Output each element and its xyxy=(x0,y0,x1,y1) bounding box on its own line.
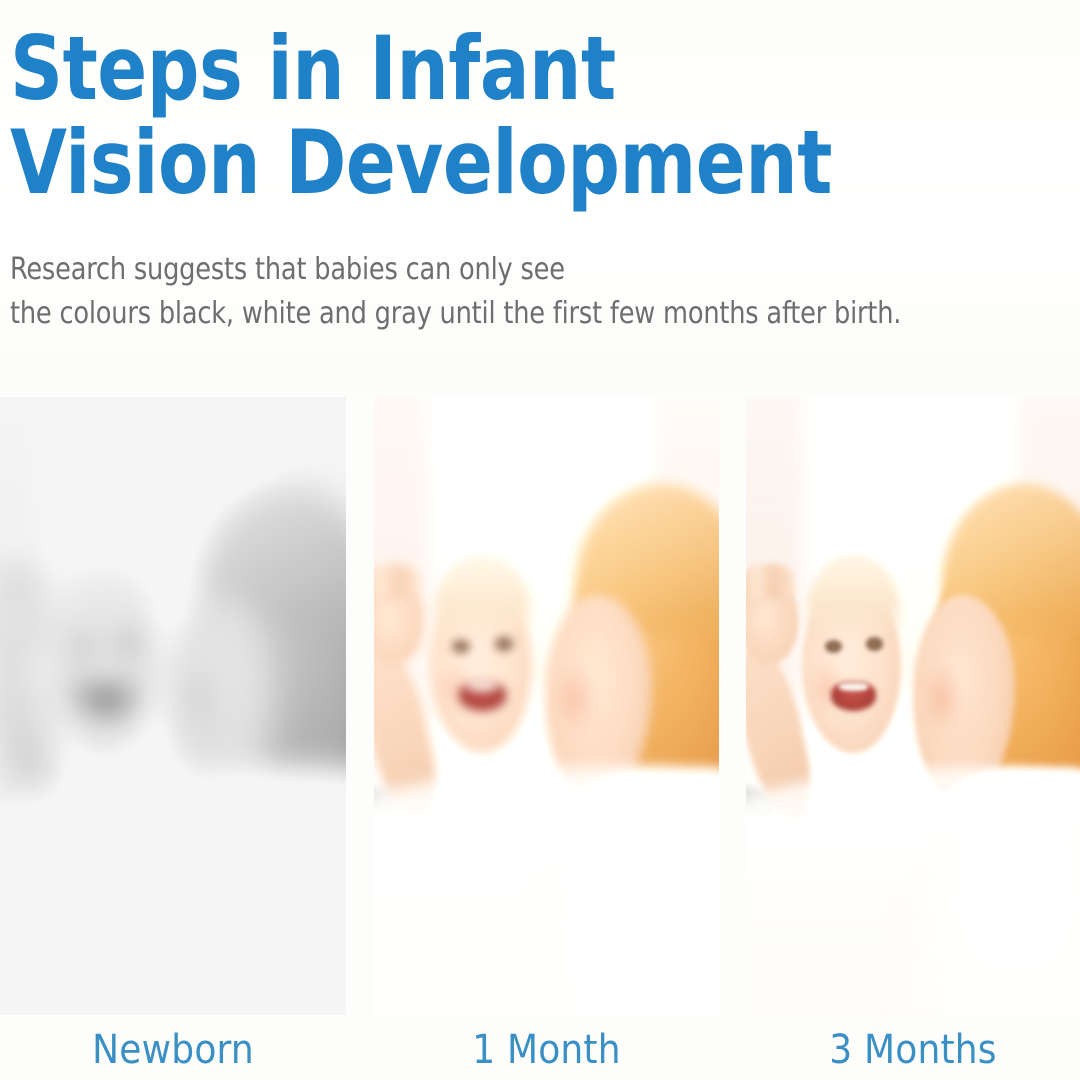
caption-newborn: Newborn xyxy=(0,1027,346,1073)
baby-eye-left xyxy=(825,640,842,653)
photo-panel-1-month xyxy=(374,397,719,1015)
infographic-canvas: Steps in Infant Vision Development Resea… xyxy=(0,0,1080,1080)
page-title: Steps in Infant Vision Development xyxy=(10,22,1070,210)
photo-highlight-top xyxy=(374,397,719,615)
mother-and-baby-photo xyxy=(746,397,1080,1015)
baby-eye-right xyxy=(119,637,137,650)
title-line-1: Steps in Infant xyxy=(10,22,996,116)
baby-eye-left xyxy=(75,640,93,653)
caption-3-months: 3 Months xyxy=(746,1027,1080,1073)
subtitle-line-2: the colours black, white and gray until … xyxy=(10,292,1017,336)
mother-and-baby-photo xyxy=(0,397,346,1015)
caption-1-month: 1 Month xyxy=(374,1027,719,1073)
baby-eye-right xyxy=(866,637,883,650)
photo-panel-3-months xyxy=(746,397,1080,1015)
baby-teeth xyxy=(839,683,868,691)
subtitle-line-1: Research suggests that babies can only s… xyxy=(10,248,1017,292)
caption-row: Newborn 1 Month 3 Months xyxy=(0,1015,1080,1080)
title-line-2: Vision Development xyxy=(10,116,996,210)
photo-highlight-bottom xyxy=(374,850,719,1015)
baby-eye-right xyxy=(495,637,513,650)
page-subtitle: Research suggests that babies can only s… xyxy=(10,248,1070,336)
photo-highlight-top xyxy=(0,397,346,615)
mother-cheek xyxy=(553,664,596,733)
baby-teeth xyxy=(467,683,497,691)
baby-eye-left xyxy=(452,640,470,653)
mother-cheek xyxy=(178,664,222,733)
photo-highlight-top xyxy=(746,397,1080,615)
photo-highlight-bottom xyxy=(0,850,346,1015)
photo-panel-newborn xyxy=(0,397,346,1015)
mother-cheek xyxy=(921,664,962,733)
photo-highlight-bottom xyxy=(746,850,1080,1015)
mother-and-baby-photo xyxy=(374,397,719,1015)
baby-teeth xyxy=(90,683,121,691)
photo-panel-strip xyxy=(0,397,1080,1015)
header-section: Steps in Infant Vision Development Resea… xyxy=(0,0,1080,390)
